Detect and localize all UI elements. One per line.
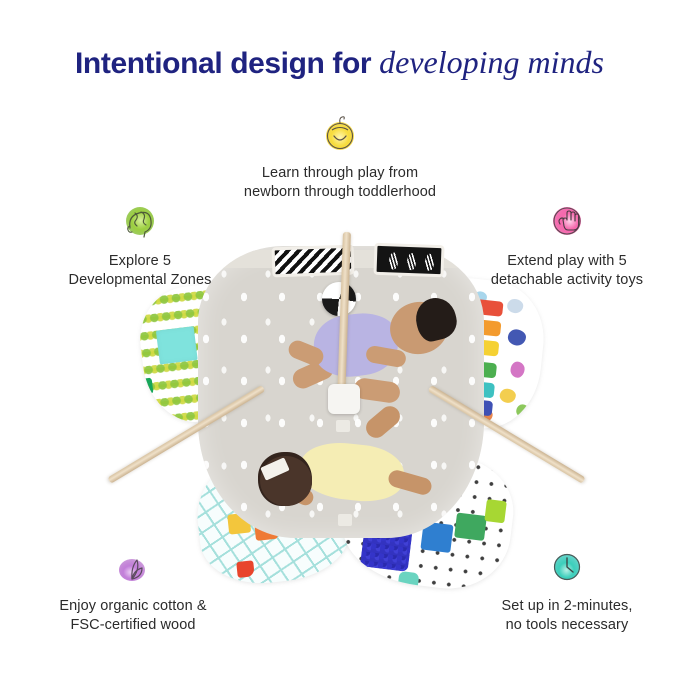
feature-detachable-toys: Extend play with 5 detachable activity t… <box>452 198 679 290</box>
feature-text: Explore 5 Developmental Zones <box>25 252 255 290</box>
feature-organic-materials: Enjoy organic cotton & FSC-certified woo… <box>18 543 248 635</box>
page-title: Intentional design for developing minds <box>0 44 679 81</box>
arch-strap <box>338 514 352 526</box>
hands-circle-icon <box>544 198 590 244</box>
feature-line-1: Extend play with 5 <box>452 252 679 271</box>
green-fabric-tag <box>140 378 154 395</box>
feature-text: Enjoy organic cotton & FSC-certified woo… <box>18 597 248 635</box>
leaf-icon <box>110 543 156 589</box>
teal-crinkle-patch <box>156 326 198 364</box>
feature-quick-setup: Set up in 2-minutes, no tools necessary <box>452 543 679 635</box>
feature-line-1: Learn through play from <box>225 164 455 183</box>
feature-text: Extend play with 5 detachable activity t… <box>452 252 679 290</box>
lime-textured-block <box>484 499 507 523</box>
feature-developmental-zones: Explore 5 Developmental Zones <box>25 198 255 290</box>
feature-line-1: Set up in 2-minutes, <box>452 597 679 616</box>
feature-learn-through-play: Learn through play from newborn through … <box>225 110 455 202</box>
feature-line-2: Developmental Zones <box>25 271 255 290</box>
teal-fabric-tag <box>397 571 419 591</box>
feature-line-2: detachable activity toys <box>452 271 679 290</box>
feature-line-1: Enjoy organic cotton & <box>18 597 248 616</box>
page-title-emphasis: developing minds <box>379 44 604 80</box>
leaf-glyph-icon <box>425 254 435 271</box>
page-title-main: Intentional design for <box>75 47 379 80</box>
feature-line-2: no tools necessary <box>452 616 679 635</box>
toddler-bottom <box>236 434 456 544</box>
clock-icon <box>544 543 590 589</box>
feature-line-1: Explore 5 <box>25 252 255 271</box>
arch-centre-hub <box>328 384 360 414</box>
infographic-page: Intentional design for developing minds <box>0 0 679 679</box>
feature-line-2: FSC-certified wood <box>18 616 248 635</box>
feature-text: Learn through play from newborn through … <box>225 164 455 202</box>
feature-text: Set up in 2-minutes, no tools necessary <box>452 597 679 635</box>
brain-head-icon <box>117 198 163 244</box>
leaf-glyph-icon <box>407 253 417 270</box>
arch-strap <box>336 420 350 432</box>
smiley-chick-icon <box>317 110 363 156</box>
feature-line-2: newborn through toddlerhood <box>225 183 455 202</box>
leaf-glyph-icon <box>389 252 399 269</box>
high-contrast-leaf-panel <box>373 243 444 277</box>
infant-leg <box>353 377 401 404</box>
